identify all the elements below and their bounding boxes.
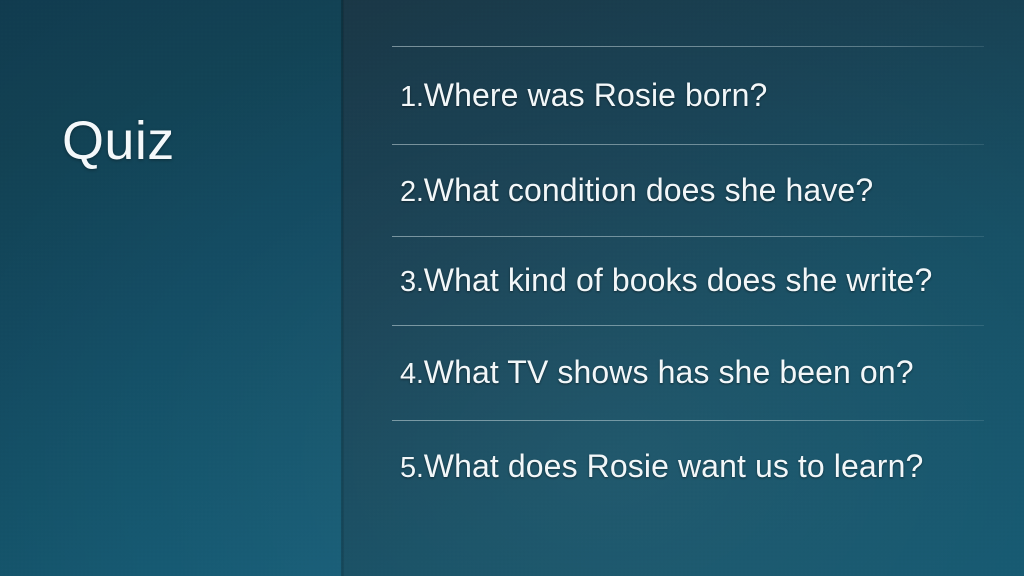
panel-divider [341, 0, 344, 576]
question-label: Where was Rosie born? [424, 77, 768, 113]
slide-title: Quiz [62, 113, 322, 170]
question-text: 5.What does Rosie want us to learn? [392, 448, 923, 485]
question-number: 2. [400, 176, 424, 208]
question-divider-rule [392, 144, 984, 145]
question-number: 1. [400, 81, 424, 113]
question-text: 3.What kind of books does she write? [392, 262, 932, 299]
question-label: What kind of books does she write? [424, 262, 933, 298]
quiz-question-item: 5.What does Rosie want us to learn? [392, 420, 984, 512]
quiz-question-item: 4.What TV shows has she been on? [392, 325, 984, 420]
quiz-question-list: 1.Where was Rosie born? 2.What condition… [392, 46, 984, 512]
question-divider-rule [392, 236, 984, 237]
question-text: 4.What TV shows has she been on? [392, 354, 914, 391]
quiz-question-item: 3.What kind of books does she write? [392, 236, 984, 325]
question-text: 2.What condition does she have? [392, 172, 873, 209]
presentation-slide: Quiz 1.Where was Rosie born? 2.What cond… [0, 0, 1024, 576]
question-divider-rule [392, 46, 984, 47]
question-divider-rule [392, 325, 984, 326]
question-number: 3. [400, 266, 424, 298]
quiz-question-item: 1.Where was Rosie born? [392, 46, 984, 144]
question-text: 1.Where was Rosie born? [392, 77, 767, 114]
question-number: 5. [400, 452, 424, 484]
quiz-question-item: 2.What condition does she have? [392, 144, 984, 236]
question-divider-rule [392, 420, 984, 421]
question-label: What does Rosie want us to learn? [424, 448, 924, 484]
question-label: What condition does she have? [424, 172, 873, 208]
question-number: 4. [400, 358, 424, 390]
slide-background-left-panel [0, 0, 343, 576]
question-label: What TV shows has she been on? [424, 354, 914, 390]
